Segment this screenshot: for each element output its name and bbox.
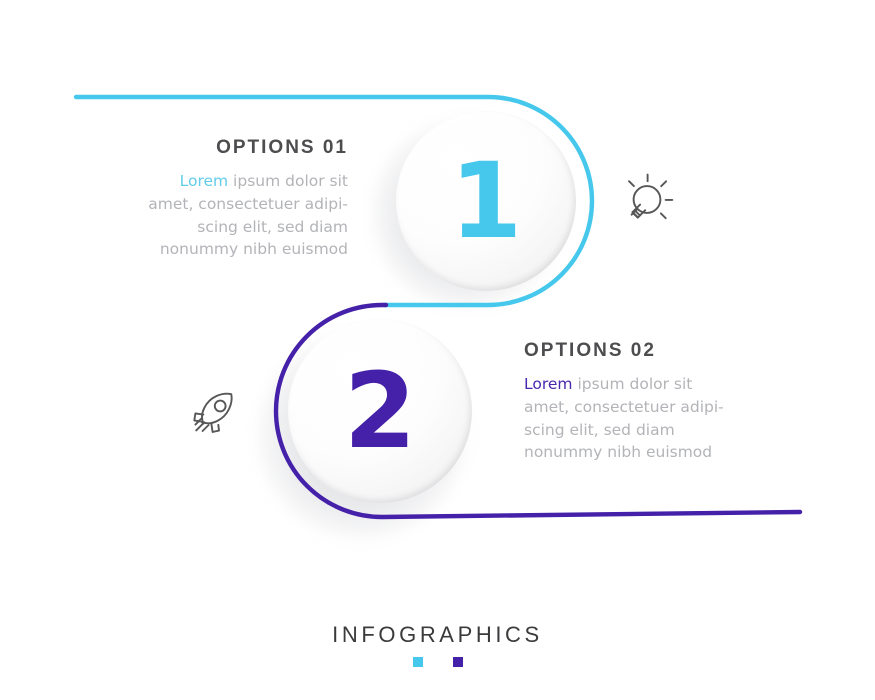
step-1-body: Lorem ipsum dolor sit amet, consectetuer… — [60, 170, 348, 261]
step-2-body: Lorem ipsum dolor sit amet, consectetuer… — [524, 373, 824, 464]
step-1-body-line-1: ipsum dolor sit — [228, 172, 348, 190]
step-2-title: OPTIONS 02 — [524, 340, 824, 362]
dot-purple — [453, 657, 463, 667]
step-2-lead-word: Lorem — [524, 375, 573, 393]
footer-title: INFOGRAPHICS — [0, 622, 875, 648]
step-1-icon-wrap — [614, 170, 676, 232]
infographic-canvas: 1 2 OPTIONS 01 Lorem ipsum dolor sit ame… — [0, 0, 875, 700]
dot-cyan — [413, 657, 423, 667]
step-1-body-line-2: amet, consectetuer adipi- — [148, 195, 348, 213]
step-2-body-line-3: scing elit, sed diam — [524, 421, 675, 439]
lightbulb-icon — [614, 170, 676, 232]
step-1-body-line-3: scing elit, sed diam — [197, 218, 348, 236]
step-1-lead-word: Lorem — [180, 172, 229, 190]
step-1-title: OPTIONS 01 — [60, 137, 348, 159]
step-2-icon-wrap — [182, 384, 244, 446]
footer-dots — [0, 657, 875, 667]
step-2-body-line-1: ipsum dolor sit — [573, 375, 693, 393]
footer: INFOGRAPHICS — [0, 622, 875, 667]
step-1-body-line-4: nonummy nibh euismod — [160, 240, 348, 258]
step-2-circle[interactable]: 2 — [288, 319, 472, 503]
step-1-number: 1 — [450, 149, 522, 253]
step-1-circle[interactable]: 1 — [396, 111, 576, 291]
step-1-text-block: OPTIONS 01 Lorem ipsum dolor sit amet, c… — [60, 137, 348, 261]
step-2-number: 2 — [344, 359, 416, 463]
step-2-body-line-4: nonummy nibh euismod — [524, 443, 712, 461]
step-2-body-line-2: amet, consectetuer adipi- — [524, 398, 724, 416]
rocket-icon — [182, 384, 244, 446]
step-2-text-block: OPTIONS 02 Lorem ipsum dolor sit amet, c… — [524, 340, 824, 464]
